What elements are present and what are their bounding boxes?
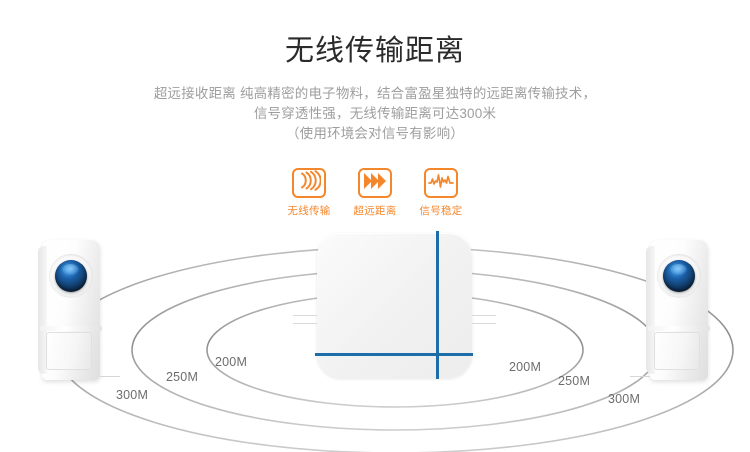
description-line-1: 超远接收距离 纯高精密的电子物料，结合富盈星独特的远距离传输技术， (0, 84, 750, 104)
receiver-cable (472, 315, 496, 316)
page-title: 无线传输距离 (0, 36, 750, 68)
feature-badge-row: 无线传输 超远距离 (0, 168, 750, 218)
range-label-300m-right: 300M (608, 392, 640, 406)
doorbell-base-plate (46, 332, 92, 370)
feature-label: 信号稳定 (419, 203, 462, 218)
receiver-cable (293, 323, 317, 324)
feature-label: 超远距离 (353, 203, 396, 218)
wireless-range-infographic: 无线传输距离 超远接收距离 纯高精密的电子物料，结合富盈星独特的远距离传输技术，… (0, 0, 750, 452)
fast-forward-arrows-icon (363, 172, 387, 195)
range-label-250m-right: 250M (558, 374, 590, 388)
receiver-cable (472, 323, 496, 324)
feature-stable-signal: 信号稳定 (414, 168, 469, 218)
wireless-signal-icon (297, 170, 321, 196)
feature-label: 无线传输 (287, 203, 330, 218)
feature-icon-box (424, 168, 458, 198)
range-label-200m-left: 200M (215, 355, 247, 369)
receiver-seam-horizontal (315, 353, 473, 356)
doorbell-push-button-right (646, 240, 714, 380)
doorbell-wire (630, 376, 650, 377)
doorbell-base-seam (648, 326, 710, 331)
feature-icon-box (358, 168, 392, 198)
range-label-300m-left: 300M (116, 388, 148, 402)
doorbell-base-plate (654, 332, 700, 370)
description-line-2: 信号穿透性强，无线传输距离可达300米 (0, 104, 750, 124)
doorbell-button[interactable] (663, 260, 695, 292)
feature-icon-box (292, 168, 326, 198)
feature-long-distance: 超远距离 (348, 168, 403, 218)
doorbell-base-seam (40, 326, 102, 331)
waveform-pulse-icon (428, 172, 454, 195)
doorbell-push-button-left (38, 240, 106, 380)
receiver-cable (293, 315, 317, 316)
description-line-3: （使用环境会对信号有影响） (0, 124, 750, 144)
receiver-seam-vertical (436, 231, 439, 379)
doorbell-wire (100, 376, 120, 377)
doorbell-button[interactable] (55, 260, 87, 292)
wireless-receiver-device (317, 233, 472, 378)
description-block: 超远接收距离 纯高精密的电子物料，结合富盈星独特的远距离传输技术， 信号穿透性强… (0, 84, 750, 144)
feature-wireless-transmission: 无线传输 (282, 168, 337, 218)
range-label-250m-left: 250M (166, 370, 198, 384)
range-label-200m-right: 200M (509, 360, 541, 374)
